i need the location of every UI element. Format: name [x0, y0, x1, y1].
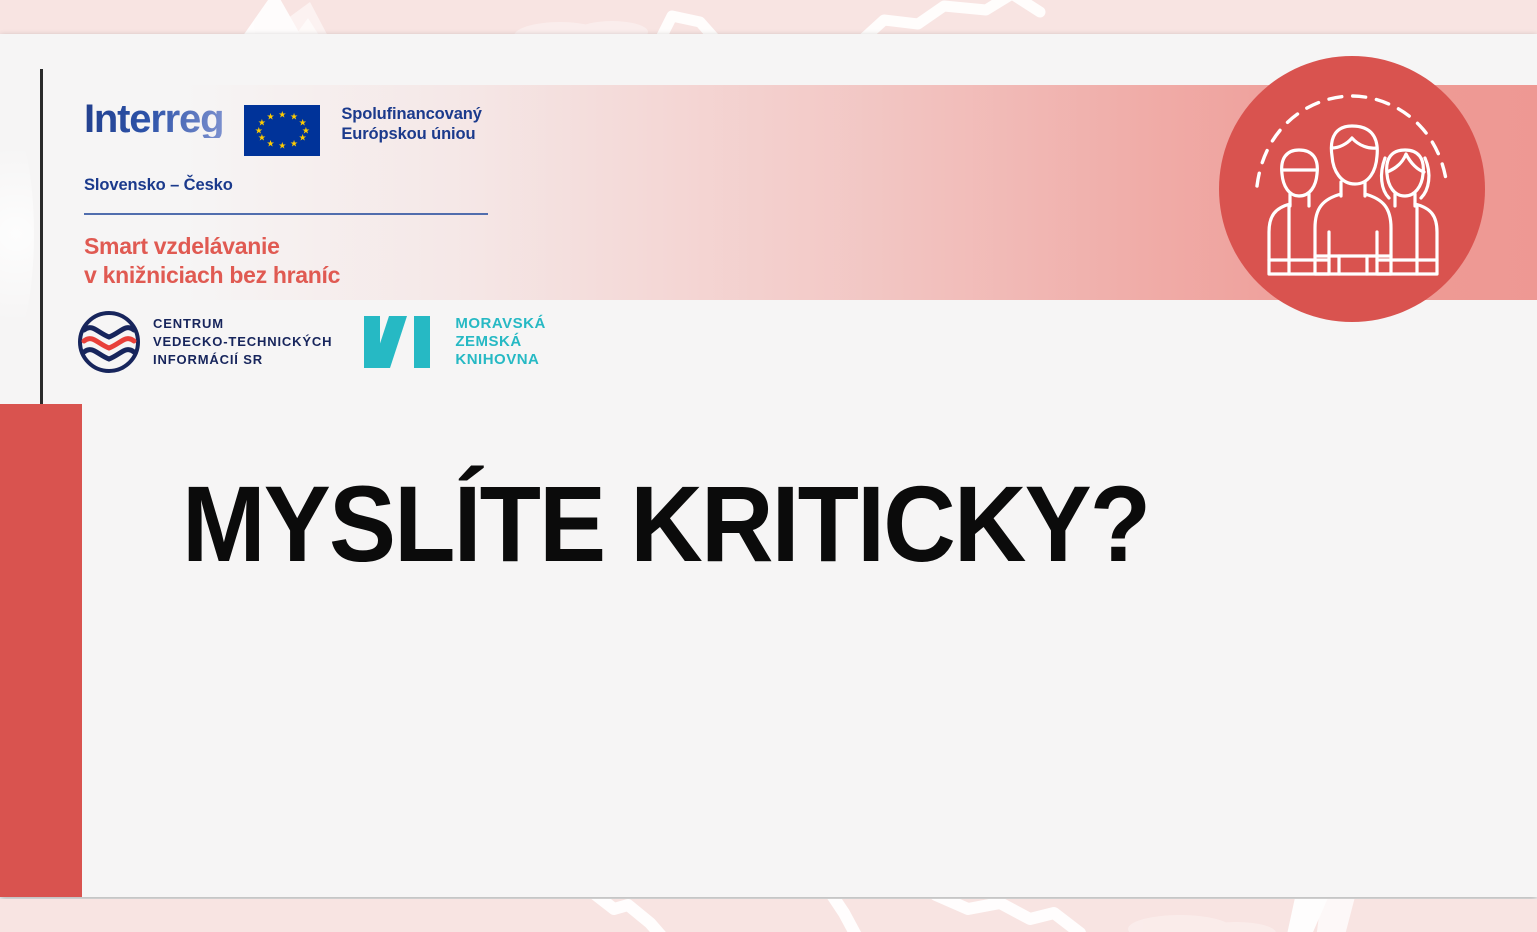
band-top-shapes — [0, 0, 1537, 34]
eu-star-icon: ★ — [278, 142, 286, 151]
eu-star-icon: ★ — [255, 126, 263, 135]
mzk-emblem-icon — [362, 312, 442, 372]
eu-star-icon: ★ — [299, 134, 307, 143]
eu-star-icon: ★ — [290, 140, 298, 149]
page-title: MYSLÍTE KRITICKY? — [182, 470, 1149, 578]
project-name: Smart vzdelávanie v knižniciach bez hran… — [84, 232, 554, 290]
eu-star-icon: ★ — [267, 140, 275, 149]
group-badge — [1219, 56, 1485, 322]
partner-name-mzk: MORAVSKÁ ZEMSKÁ KNIHOVNA — [455, 315, 545, 370]
partner-name-cvti-sr: CENTRUM VEDECKO-TECHNICKÝCH INFORMÁCIÍ S… — [153, 315, 332, 368]
eu-star-icon: ★ — [258, 118, 266, 127]
eu-flag-icon: ★★★★★★★★★★★★ — [244, 105, 320, 156]
eu-star-icon: ★ — [258, 134, 266, 143]
logo-divider — [84, 213, 488, 215]
partner-logo-cvti-sr: CENTRUM VEDECKO-TECHNICKÝCH INFORMÁCIÍ S… — [78, 311, 332, 373]
slide-card: Interreg ★★★★★★★★★★★★ Spolufinancovaný E… — [0, 34, 1537, 897]
cvti-sr-emblem-icon — [78, 311, 140, 373]
interreg-wordmark: Interreg — [84, 101, 223, 138]
interreg-programme-subtitle: Slovensko – Česko — [84, 176, 554, 195]
decorative-band-bottom — [0, 899, 1537, 932]
eu-funding-caption: Spolufinancovaný Európskou úniou — [341, 104, 482, 145]
slide-canvas: Interreg ★★★★★★★★★★★★ Spolufinancovaný E… — [0, 0, 1537, 932]
partner-logo-mzk: MORAVSKÁ ZEMSKÁ KNIHOVNA — [362, 312, 545, 372]
decorative-band-top — [0, 0, 1537, 34]
left-accent-bar — [0, 404, 82, 897]
eu-star-icon: ★ — [290, 112, 298, 121]
band-bottom-shapes — [0, 899, 1537, 932]
interreg-logo-row: Interreg ★★★★★★★★★★★★ Spolufinancovaný E… — [84, 100, 554, 156]
vertical-rule — [40, 69, 43, 439]
partner-logos: CENTRUM VEDECKO-TECHNICKÝCH INFORMÁCIÍ S… — [78, 311, 546, 373]
logo-block: Interreg ★★★★★★★★★★★★ Spolufinancovaný E… — [84, 100, 554, 290]
eu-star-icon: ★ — [278, 110, 286, 119]
eu-star-icon: ★ — [267, 112, 275, 121]
group-of-people-icon — [1219, 56, 1485, 322]
